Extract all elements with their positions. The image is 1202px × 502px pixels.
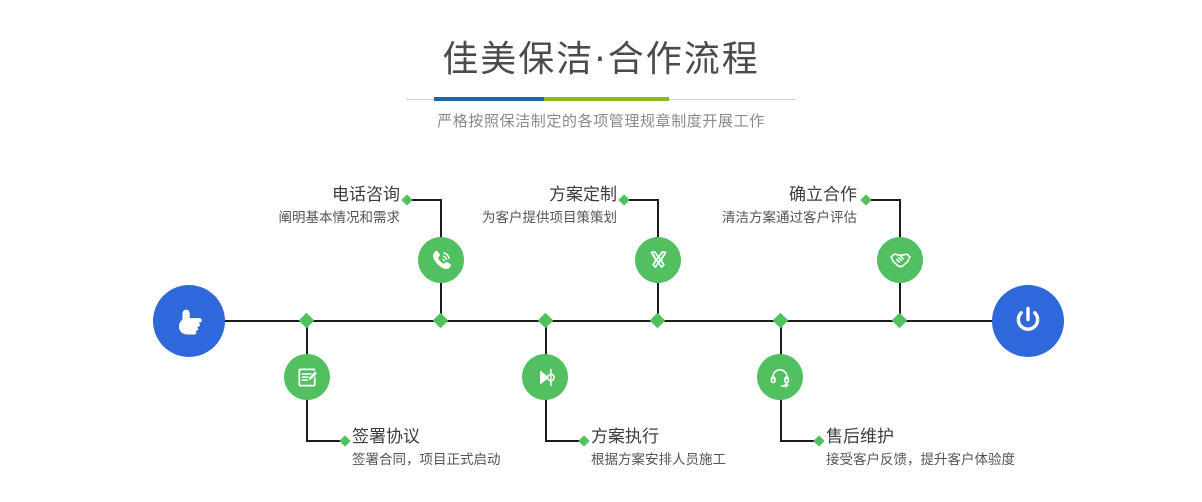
step-4-desc: 根据方案安排人员施工 [591, 451, 811, 469]
step-5-icon-badge[interactable] [877, 237, 923, 283]
step-1-label: 电话咨询 阐明基本情况和需求 [188, 185, 400, 227]
step-3-label: 方案定制 为客户提供项目策策划 [400, 185, 617, 227]
timeline-start-endpoint [153, 285, 225, 357]
step-4-axis-marker [538, 313, 554, 329]
step-3-label-marker [618, 194, 629, 205]
step-2-label: 签署协议 签署合同，项目正式启动 [352, 427, 572, 469]
step-4-label: 方案执行 根据方案安排人员施工 [591, 427, 811, 469]
step-4-title: 方案执行 [591, 427, 811, 447]
step-1-desc: 阐明基本情况和需求 [188, 209, 400, 227]
step-3-icon-badge[interactable] [635, 237, 681, 283]
sign-document-icon [295, 365, 320, 390]
power-icon [1008, 301, 1048, 341]
divider-segment-green [544, 97, 669, 101]
step-3-desc: 为客户提供项目策策划 [400, 209, 617, 227]
step-6-title: 售后维护 [826, 427, 1076, 447]
step-6-icon-badge[interactable] [757, 354, 803, 400]
step-2-axis-marker [299, 313, 315, 329]
step-3-title: 方案定制 [400, 185, 617, 205]
step-5-axis-marker [892, 313, 908, 329]
page-subtitle: 严格按照保洁制定的各项管理规章制度开展工作 [0, 101, 1202, 131]
timeline-end-endpoint [992, 285, 1064, 357]
step-6-desc: 接受客户反馈，提升客户体验度 [826, 451, 1076, 469]
step-2-title: 签署协议 [352, 427, 572, 447]
step-2-desc: 签署合同，项目正式启动 [352, 451, 572, 469]
step-5-title: 确立合作 [640, 185, 857, 205]
flow-diagram-canvas: 佳美保洁·合作流程 严格按照保洁制定的各项管理规章制度开展工作 [0, 0, 1202, 502]
divider-segment-blue [434, 97, 544, 101]
step-2-label-marker [339, 435, 350, 446]
step-1-axis-marker [433, 313, 449, 329]
handshake-icon [888, 248, 913, 273]
phone-call-icon [428, 247, 454, 273]
step-1-icon-badge[interactable] [418, 237, 464, 283]
step-6-axis-marker [773, 313, 789, 329]
header: 佳美保洁·合作流程 严格按照保洁制定的各项管理规章制度开展工作 [0, 0, 1202, 131]
play-execute-icon [533, 365, 558, 390]
step-5-desc: 清洁方案通过客户评估 [640, 209, 857, 227]
step-4-label-marker [578, 435, 589, 446]
step-2-icon-badge[interactable] [284, 354, 330, 400]
pencil-ruler-icon [646, 248, 671, 273]
step-5-label: 确立合作 清洁方案通过客户评估 [640, 185, 857, 227]
step-5-label-marker [860, 194, 871, 205]
step-3-axis-marker [650, 313, 666, 329]
title-divider [406, 97, 796, 101]
step-1-title: 电话咨询 [188, 185, 400, 205]
step-6-label: 售后维护 接受客户反馈，提升客户体验度 [826, 427, 1076, 469]
step-6-label-marker [813, 435, 824, 446]
headset-support-icon [768, 365, 793, 390]
pointing-hand-icon [169, 301, 209, 341]
step-4-icon-badge[interactable] [522, 354, 568, 400]
page-title: 佳美保洁·合作流程 [0, 0, 1202, 81]
